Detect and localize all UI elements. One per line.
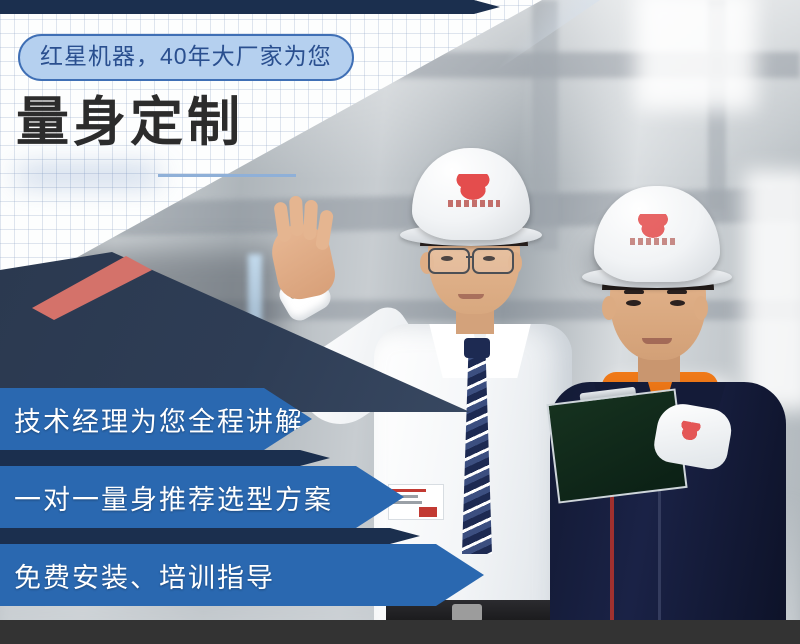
tagline-pill: 红星机器，40年大厂家为您 — [18, 34, 354, 81]
feature-bar-separator — [0, 528, 420, 544]
feature-bar-2: 一对一量身推荐选型方案 — [0, 466, 404, 528]
feature-bar-separator — [0, 450, 330, 466]
hard-hat-logo-text — [630, 238, 678, 245]
page-title: 量身定制 — [16, 96, 244, 149]
eyeglasses-lens — [428, 248, 470, 274]
eyeglasses-lens — [472, 248, 514, 274]
finger — [289, 196, 304, 237]
tie-knot — [464, 338, 490, 358]
hard-hat-logo-icon — [634, 214, 672, 238]
mouth — [642, 338, 672, 344]
title-underline-primary — [18, 173, 158, 178]
title-underline-secondary — [158, 174, 296, 177]
hard-hat-logo-icon — [452, 174, 494, 200]
finger — [303, 200, 318, 241]
mouth — [458, 294, 484, 299]
feature-bar-2-label: 一对一量身推荐选型方案 — [0, 478, 333, 517]
promo-banner: 红星机器，40年大厂家为您 量身定制 技术经理为您全程讲解 一对一量身推荐选型方… — [0, 0, 800, 644]
ear — [694, 296, 708, 320]
eye — [670, 300, 685, 306]
eyebrow — [624, 290, 644, 294]
hard-hat-logo-text — [448, 200, 500, 207]
glove-logo-icon — [677, 420, 704, 442]
window-highlight — [636, 0, 756, 110]
feature-bar-3-label: 免费安装、培训指导 — [0, 556, 275, 595]
eyeglasses-bridge — [466, 256, 474, 258]
company-id-badge — [388, 484, 444, 520]
eye — [626, 300, 641, 306]
feature-bar-1: 技术经理为您全程讲解 — [0, 388, 312, 450]
feature-bar-1-label: 技术经理为您全程讲解 — [0, 400, 304, 439]
feature-bar-3: 免费安装、培训指导 — [0, 544, 484, 606]
eyebrow — [667, 290, 687, 294]
footer-strip — [0, 620, 800, 644]
person-field-engineer — [546, 186, 792, 644]
feature-bar-separator — [0, 0, 500, 14]
ear — [602, 296, 616, 320]
